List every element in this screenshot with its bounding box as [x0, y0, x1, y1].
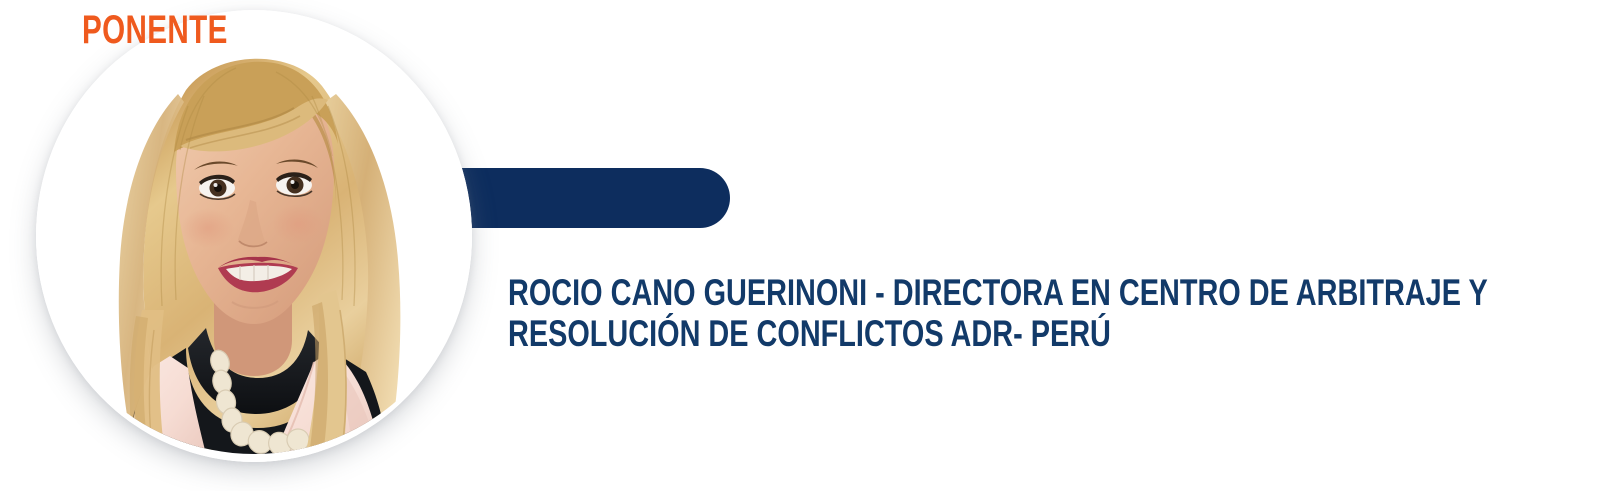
speaker-portrait [28, 2, 488, 472]
speaker-caption-line-2: RESOLUCIÓN DE CONFLICTOS ADR- PERÚ [508, 313, 1194, 354]
speaker-caption-line-1: ROCIO CANO GUERINONI - DIRECTORA EN CENT… [508, 272, 1194, 313]
speaker-caption: ROCIO CANO GUERINONI - DIRECTORA EN CENT… [508, 272, 1388, 354]
speaker-banner: PONENTE [0, 0, 1600, 491]
portrait-image-clip [36, 10, 472, 462]
portrait-illustration [36, 10, 472, 462]
ponente-badge-label: PONENTE [21, 0, 242, 60]
